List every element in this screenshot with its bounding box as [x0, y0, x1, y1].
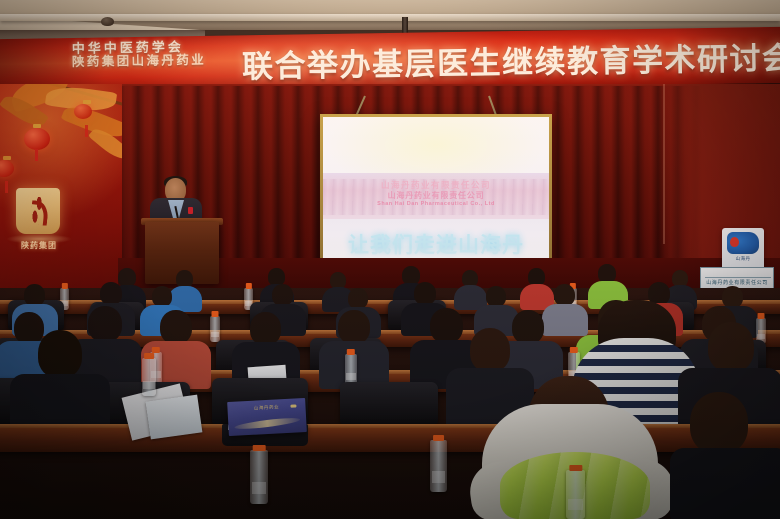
- decorative-wall-panel: 陕药集团: [0, 84, 122, 294]
- water-bottle-icon: [430, 440, 447, 492]
- conference-folder-icon: 山海丹药业: [227, 398, 307, 436]
- folder-wave-graphic: [234, 416, 300, 431]
- slide-company-cn: 山海丹药业有限责任公司: [323, 190, 549, 201]
- rollup-artwork: [727, 232, 759, 254]
- slide-company-en: Shan Hai Dan Pharmaceutical Co., Ltd: [323, 201, 549, 207]
- folder-accent: [290, 404, 296, 407]
- plaque-text: 山海丹药业有限责任公司: [701, 279, 773, 286]
- fluorescent-light-icon: [0, 14, 780, 21]
- red-lantern-icon: [24, 128, 50, 150]
- water-bottle-icon: [142, 358, 156, 396]
- dome-camera-icon: [101, 17, 114, 26]
- plaque-divider: [705, 277, 771, 278]
- handout-paper-icon: [146, 395, 203, 440]
- conference-chair-icon: [340, 382, 438, 424]
- conference-hall-photo: 中华中医药学会 陕药集团山海丹药业 联合举办基层医生继续教育学术研讨会 陕药集团: [0, 0, 780, 519]
- banner-main-title: 联合举办基层医生继续教育学术研讨会: [242, 33, 780, 87]
- wooden-desk-icon: [0, 424, 780, 452]
- company-logo-text: 陕药集团: [8, 240, 70, 251]
- seal-dragon-logo-icon: [16, 188, 60, 234]
- rollup-caption: 山海丹: [722, 256, 764, 262]
- wall-seam: [663, 84, 665, 244]
- rollup-banner-icon: 山海丹: [722, 228, 764, 272]
- water-bottle-icon: [566, 470, 585, 519]
- red-lantern-icon: [74, 104, 92, 119]
- water-bottle-icon: [210, 316, 220, 342]
- logo-mark: [29, 197, 46, 225]
- water-bottle-icon: [250, 450, 268, 504]
- status-badge: [188, 207, 193, 214]
- projection-screen-frame: 山海丹药业有限责任公司 山海丹药业有限责任公司 Shan Hai Dan Pha…: [320, 114, 552, 276]
- projection-screen: 山海丹药业有限责任公司 山海丹药业有限责任公司 Shan Hai Dan Pha…: [323, 117, 549, 273]
